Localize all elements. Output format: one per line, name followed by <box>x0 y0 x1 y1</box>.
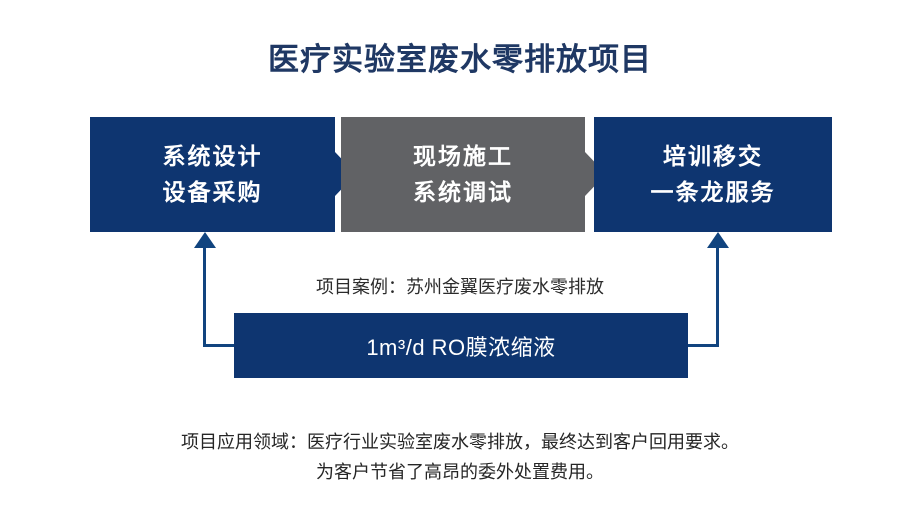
case-caption: 项目案例：苏州金翼医疗废水零排放 <box>0 273 920 299</box>
footer-note: 项目应用领域：医疗行业实验室废水零排放，最终达到客户回用要求。 为客户节省了高昂… <box>60 428 860 487</box>
stage-2-line-2: 系统调试 <box>413 175 513 211</box>
case-data-bar[interactable]: 1m³/d RO膜浓缩液 <box>234 313 688 378</box>
arrow-up-icon-right <box>707 232 729 248</box>
stage-1-line-1: 系统设计 <box>163 139 263 175</box>
footer-note-line-1: 项目应用领域：医疗行业实验室废水零排放，最终达到客户回用要求。 <box>60 428 860 458</box>
case-data-bar-label: 1m³/d RO膜浓缩液 <box>366 330 555 362</box>
connector-left-vertical <box>203 248 206 346</box>
arrow-up-icon-left <box>194 232 216 248</box>
connector-right-vertical <box>716 248 719 346</box>
process-stage-system-design[interactable]: 系统设计 设备采购 <box>90 117 335 232</box>
slide-canvas: 医疗实验室废水零排放项目 系统设计 设备采购 现场施工 系统调试 培训移交 一条… <box>0 0 920 508</box>
connector-right-horizontal <box>685 344 719 347</box>
stage-3-line-2: 一条龙服务 <box>651 175 776 211</box>
connector-left-horizontal <box>203 344 237 347</box>
process-stage-training-handover[interactable]: 培训移交 一条龙服务 <box>594 117 832 232</box>
stage-1-line-2: 设备采购 <box>163 175 263 211</box>
footer-note-line-2: 为客户节省了高昂的委外处置费用。 <box>60 458 860 488</box>
stage-3-line-1: 培训移交 <box>663 139 763 175</box>
stage-2-line-1: 现场施工 <box>413 139 513 175</box>
process-stage-site-construction[interactable]: 现场施工 系统调试 <box>341 117 585 232</box>
page-title: 医疗实验室废水零排放项目 <box>0 34 920 79</box>
